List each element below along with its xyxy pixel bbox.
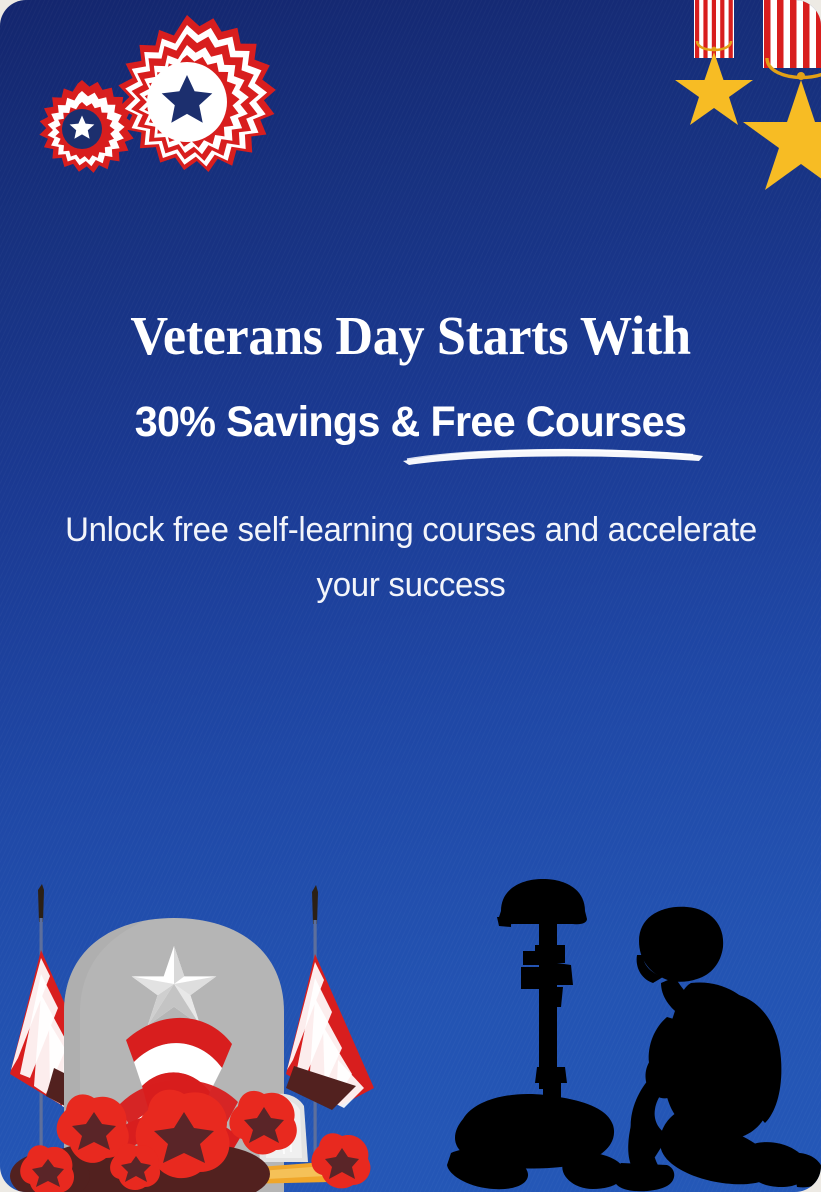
page-title: Veterans Day Starts With [47,306,774,365]
medals-svg [641,0,821,190]
rosette-decoration-group [10,8,290,218]
star-rosette-badge-icon [118,15,276,172]
rosette-svg [10,8,290,218]
kneeling-soldier-silhouette-illustration [439,867,821,1192]
memorial-gravestone-illustration [0,862,394,1192]
promo-text-block: Veterans Day Starts With 30% Savings & F… [0,306,821,613]
battlefield-cross-icon [447,879,624,1189]
memorial-svg [0,862,394,1192]
soldier-svg [439,867,821,1192]
gold-star-medal-icon [675,0,753,125]
kneeling-soldier-icon [614,907,821,1191]
medal-decoration-group [641,0,821,190]
promo-description: Unlock free self-learning courses and ac… [56,503,764,613]
brush-stroke-underline-icon [399,439,711,469]
gold-star-medal-large-icon [743,0,821,190]
star-rosette-badge-small-icon [39,80,134,173]
veterans-day-promo-banner: Veterans Day Starts With 30% Savings & F… [0,0,821,1192]
subhead-wrapper: 30% Savings & Free Courses [28,399,793,446]
